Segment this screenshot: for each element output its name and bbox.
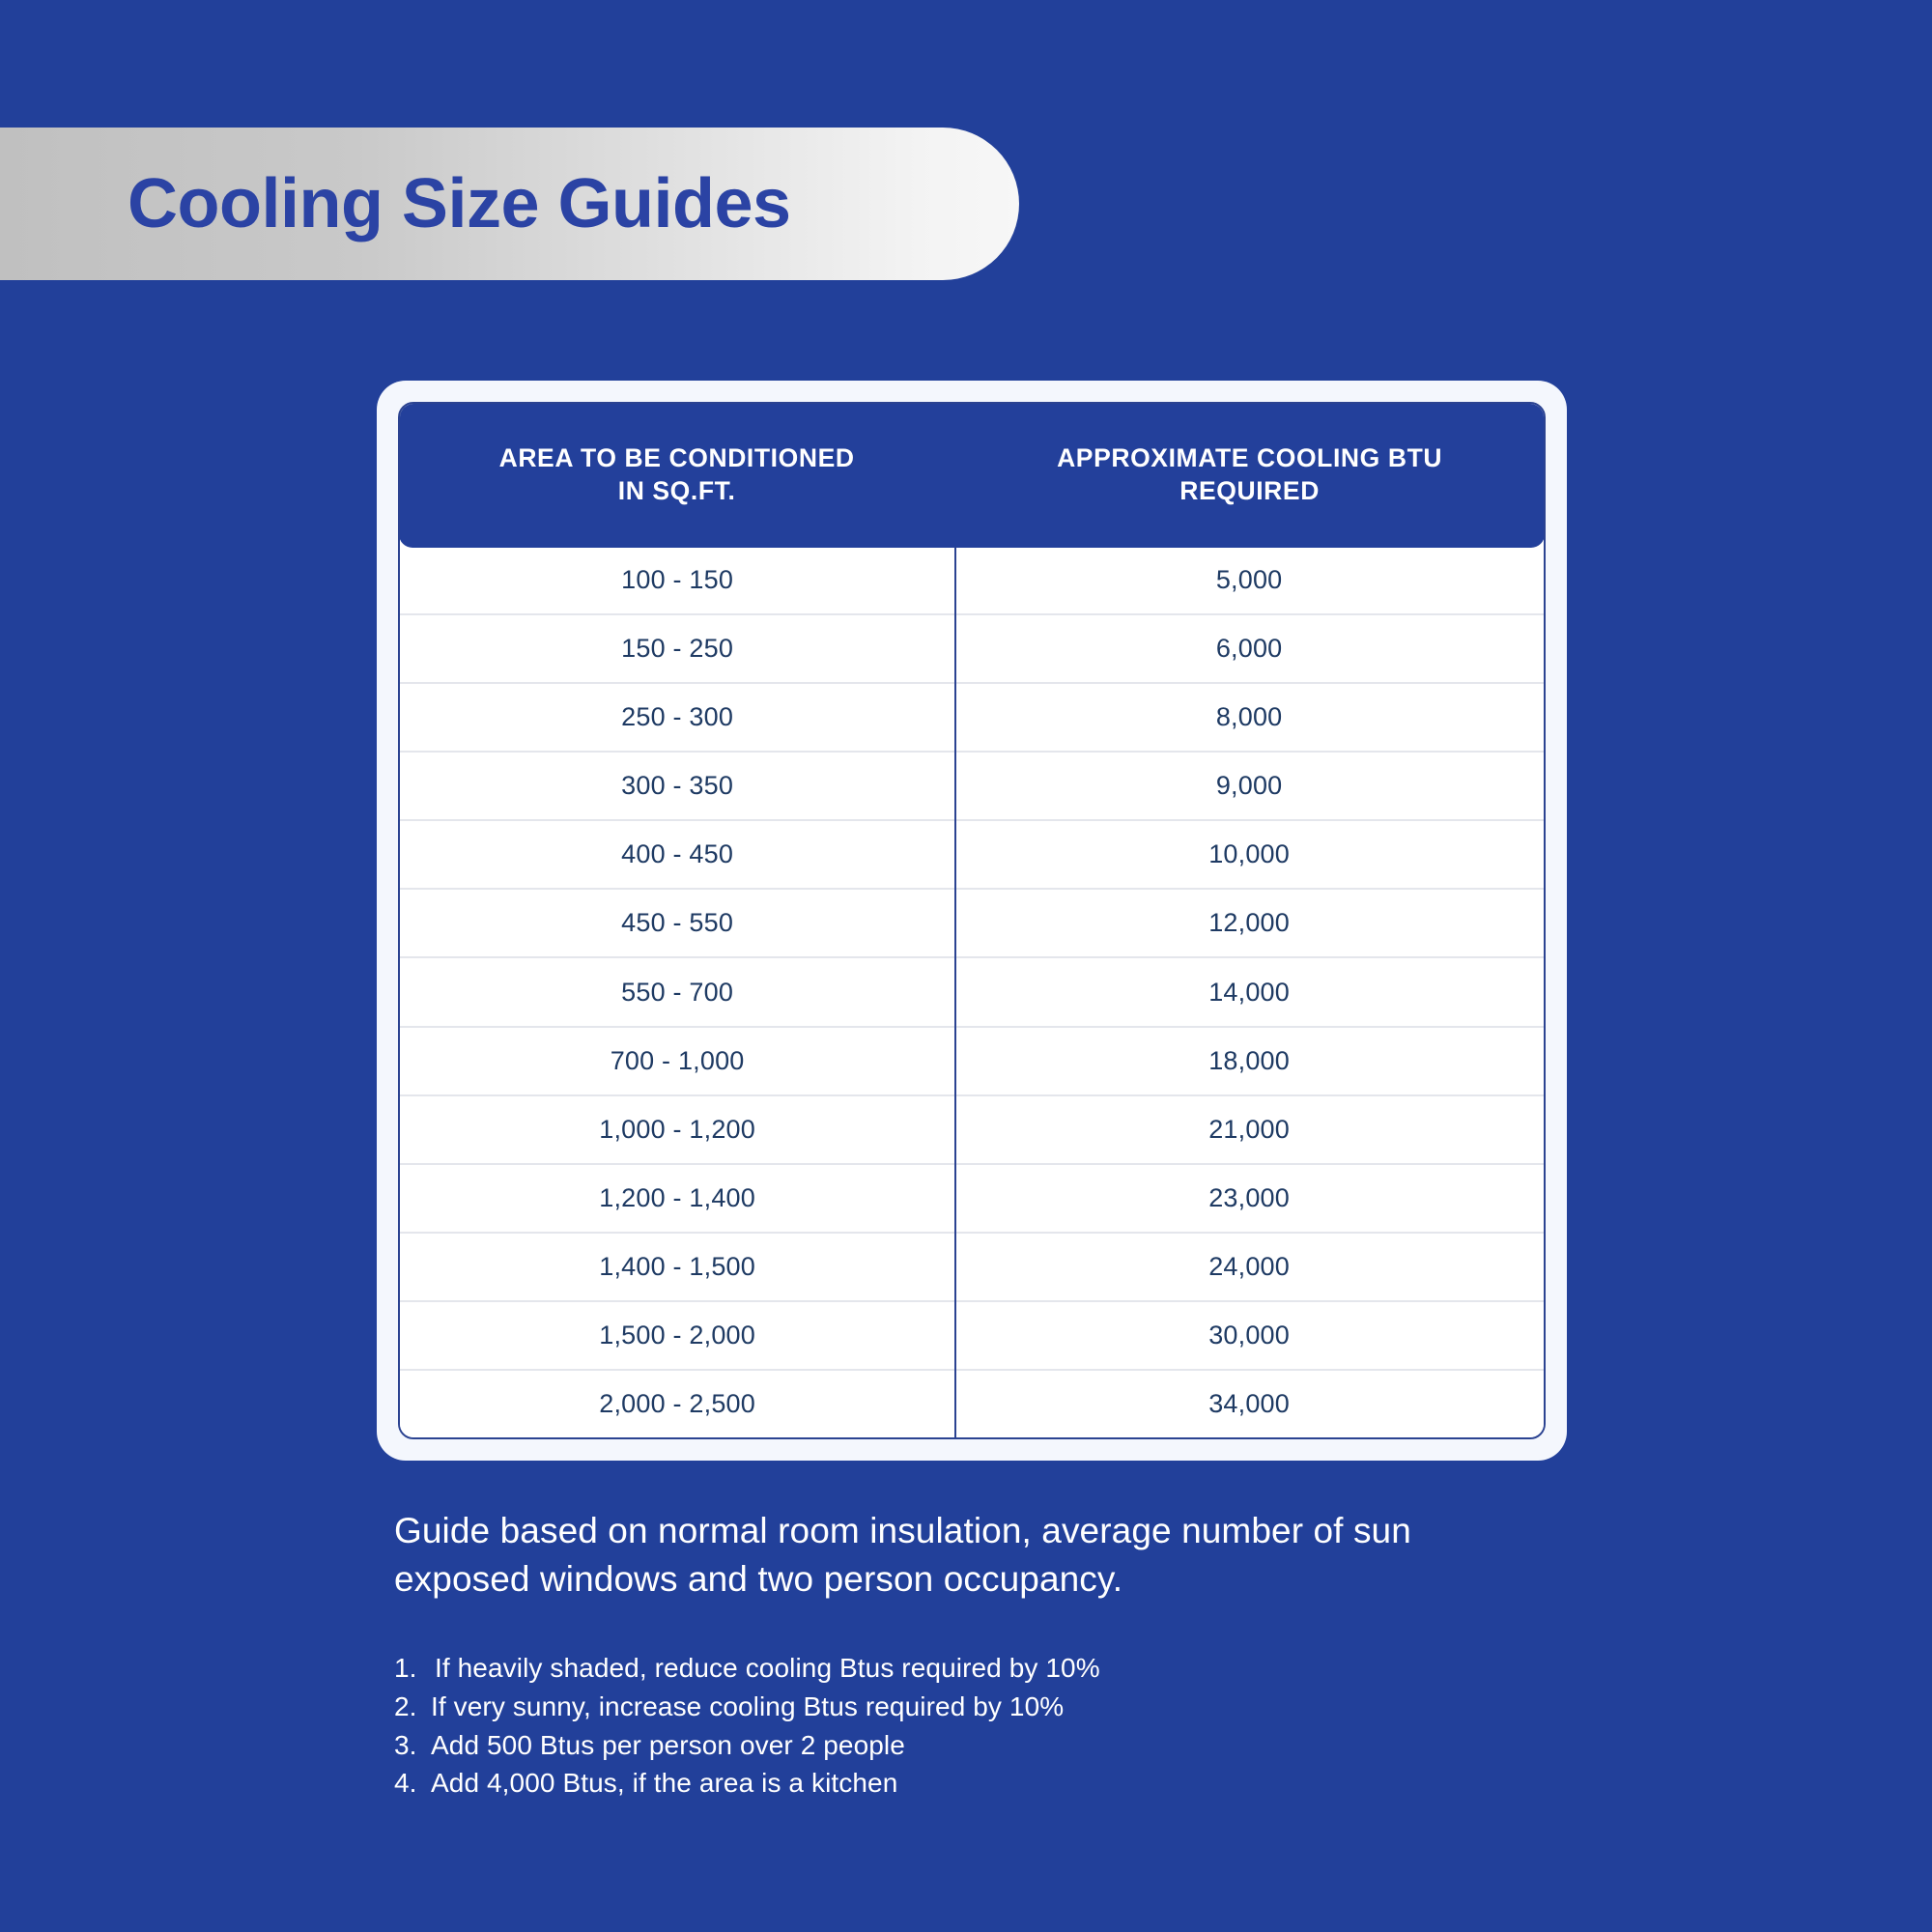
footer: Guide based on normal room insulation, a… [394,1507,1534,1803]
table-row: 1,400 - 1,50024,000 [400,1234,1544,1302]
cell-area: 700 - 1,000 [400,1028,954,1094]
cell-btu: 23,000 [954,1165,1544,1232]
cell-btu: 14,000 [954,958,1544,1025]
cell-area: 100 - 150 [400,547,954,613]
table-row: 700 - 1,00018,000 [400,1028,1544,1096]
footer-list-item: 3.Add 500 Btus per person over 2 people [394,1726,1534,1765]
column-divider [954,547,956,1437]
footer-list-item: 1.If heavily shaded, reduce cooling Btus… [394,1649,1534,1688]
cell-area: 1,200 - 1,400 [400,1165,954,1232]
column-header-area: AREA TO BE CONDITIONED IN SQ.FT. [399,403,954,548]
cell-btu: 8,000 [954,684,1544,751]
footer-list-item-number: 4. [394,1764,431,1803]
cell-area: 450 - 550 [400,890,954,956]
cell-btu: 9,000 [954,753,1544,819]
table-row: 450 - 55012,000 [400,890,1544,958]
table-row: 100 - 1505,000 [400,547,1544,615]
cell-btu: 34,000 [954,1371,1544,1437]
footer-note: Guide based on normal room insulation, a… [394,1507,1534,1603]
cell-area: 400 - 450 [400,821,954,888]
footer-note-line2: exposed windows and two person occupancy… [394,1555,1534,1604]
cooling-size-table-card: AREA TO BE CONDITIONED IN SQ.FT. APPROXI… [377,381,1567,1461]
cell-btu: 21,000 [954,1096,1544,1163]
footer-list-item-text: If very sunny, increase cooling Btus req… [431,1688,1064,1726]
cell-btu: 6,000 [954,615,1544,682]
cell-area: 250 - 300 [400,684,954,751]
footer-list-item: 2.If very sunny, increase cooling Btus r… [394,1688,1534,1726]
cell-btu: 30,000 [954,1302,1544,1369]
page-title: Cooling Size Guides [0,169,791,239]
cell-area: 300 - 350 [400,753,954,819]
cell-btu: 24,000 [954,1234,1544,1300]
table-body: 100 - 1505,000150 - 2506,000250 - 3008,0… [400,547,1544,1437]
cell-area: 1,400 - 1,500 [400,1234,954,1300]
column-header-btu: APPROXIMATE COOLING BTU REQUIRED [954,403,1545,548]
table-row: 1,500 - 2,00030,000 [400,1302,1544,1371]
table-row: 550 - 70014,000 [400,958,1544,1027]
table-row: 1,200 - 1,40023,000 [400,1165,1544,1234]
footer-note-line1: Guide based on normal room insulation, a… [394,1507,1534,1555]
table-row: 150 - 2506,000 [400,615,1544,684]
cooling-size-table: AREA TO BE CONDITIONED IN SQ.FT. APPROXI… [398,402,1546,1439]
table-row: 300 - 3509,000 [400,753,1544,821]
title-banner: Cooling Size Guides [0,128,1019,280]
cell-btu: 10,000 [954,821,1544,888]
footer-list: 1.If heavily shaded, reduce cooling Btus… [394,1649,1534,1803]
footer-list-item-number: 2. [394,1688,431,1726]
cell-area: 550 - 700 [400,958,954,1025]
column-header-area-line1: AREA TO BE CONDITIONED [499,442,855,475]
footer-list-item-number: 3. [394,1726,431,1765]
footer-list-item-text: Add 4,000 Btus, if the area is a kitchen [431,1764,897,1803]
table-row: 250 - 3008,000 [400,684,1544,753]
footer-list-item-text: If heavily shaded, reduce cooling Btus r… [435,1649,1100,1688]
footer-list-item: 4.Add 4,000 Btus, if the area is a kitch… [394,1764,1534,1803]
cell-btu: 5,000 [954,547,1544,613]
cell-btu: 18,000 [954,1028,1544,1094]
footer-list-item-number: 1. [394,1649,435,1688]
table-header-row: AREA TO BE CONDITIONED IN SQ.FT. APPROXI… [399,403,1545,548]
table-row: 400 - 45010,000 [400,821,1544,890]
cell-area: 150 - 250 [400,615,954,682]
column-header-btu-line2: REQUIRED [1179,475,1320,508]
column-header-btu-line1: APPROXIMATE COOLING BTU [1057,442,1442,475]
table-row: 2,000 - 2,50034,000 [400,1371,1544,1437]
cell-btu: 12,000 [954,890,1544,956]
cell-area: 1,000 - 1,200 [400,1096,954,1163]
cell-area: 1,500 - 2,000 [400,1302,954,1369]
column-header-area-line2: IN SQ.FT. [618,475,736,508]
cell-area: 2,000 - 2,500 [400,1371,954,1437]
table-row: 1,000 - 1,20021,000 [400,1096,1544,1165]
footer-list-item-text: Add 500 Btus per person over 2 people [431,1726,905,1765]
